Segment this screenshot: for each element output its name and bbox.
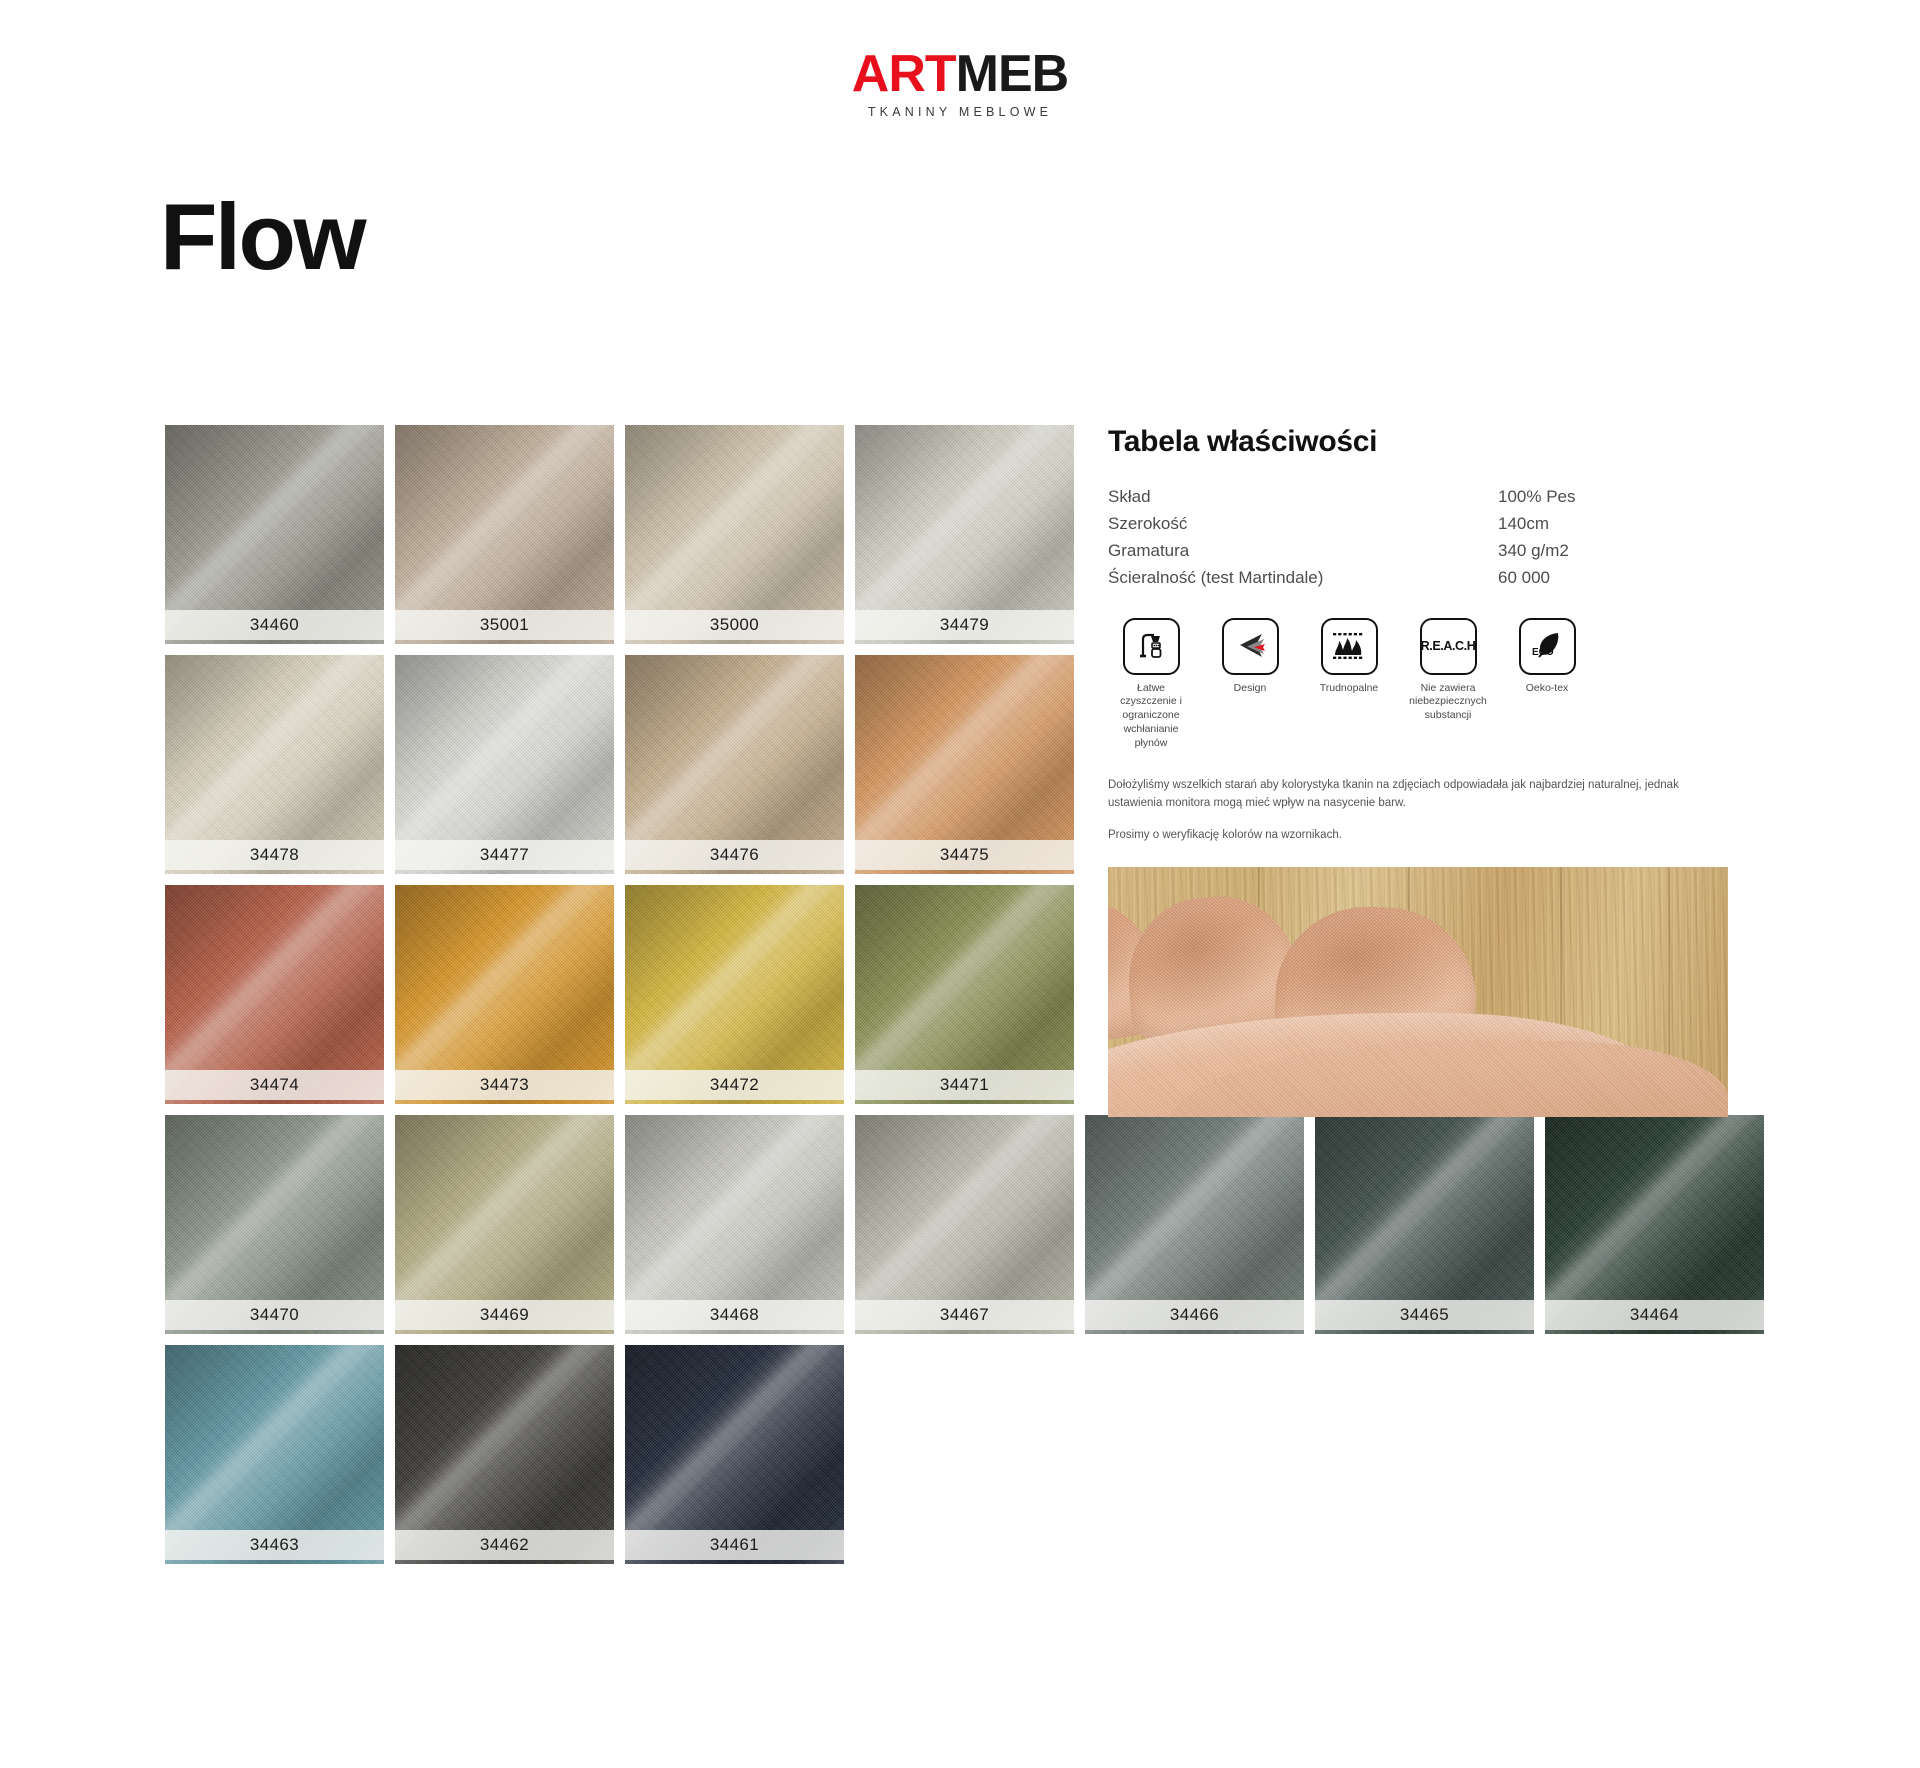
fabric-swatch[interactable]: 34470 <box>165 1115 384 1334</box>
swatch-code: 35001 <box>480 615 529 635</box>
fabric-swatch[interactable]: 34464 <box>1545 1115 1764 1334</box>
swatch-label-bar: 34474 <box>165 1070 384 1100</box>
swatch-code: 34471 <box>940 1075 989 1095</box>
fabric-swatch[interactable]: 34472 <box>625 885 844 1104</box>
swatch-code: 34473 <box>480 1075 529 1095</box>
swatch-code: 34477 <box>480 845 529 865</box>
fabric-swatch[interactable]: 34466 <box>1085 1115 1304 1334</box>
swatch-code: 34470 <box>250 1305 299 1325</box>
logo-tagline: TKANINY MEBLOWE <box>0 105 1920 119</box>
fabric-swatch[interactable]: 34462 <box>395 1345 614 1564</box>
page-title: Flow <box>160 190 364 284</box>
swatch-label-bar: 34467 <box>855 1300 1074 1330</box>
feature-flame-retardant: Trudnopalne <box>1306 618 1392 752</box>
table-row: Szerokość 140cm <box>1108 510 1728 537</box>
swatch-label-bar: 34461 <box>625 1530 844 1560</box>
swatch-row: 34470344693446834467344663446534464 <box>165 1115 1265 1334</box>
fabric-swatch[interactable]: 34475 <box>855 655 1074 874</box>
swatch-row: 34460350013500034479 <box>165 425 1265 644</box>
table-row: Skład 100% Pes <box>1108 483 1728 510</box>
property-label-scieralnosc: Ścieralność (test Martindale) <box>1108 564 1498 591</box>
fabric-swatch[interactable]: 34473 <box>395 885 614 1104</box>
sofa-upholstery <box>1108 893 1608 1117</box>
swatch-code: 34467 <box>940 1305 989 1325</box>
product-photo <box>1108 867 1728 1117</box>
table-row: Ścieralność (test Martindale) 60 000 <box>1108 564 1728 591</box>
logo-wordmark: ARTMEB <box>852 48 1068 100</box>
swatch-code: 34466 <box>1170 1305 1219 1325</box>
fabric-swatch[interactable]: 34467 <box>855 1115 1074 1334</box>
swatch-label-bar: 34460 <box>165 610 384 640</box>
swatch-label-bar: 34470 <box>165 1300 384 1330</box>
reach-icon: R.E.A.C.H <box>1420 618 1477 675</box>
swatch-label-bar: 35000 <box>625 610 844 640</box>
properties-panel: Tabela właściwości Skład 100% Pes Szerok… <box>1108 425 1728 1117</box>
swatch-code: 34475 <box>940 845 989 865</box>
feature-reach: R.E.A.C.H Nie zawiera niebezpiecznych su… <box>1405 618 1491 752</box>
brand-logo: ARTMEB TKANINY MEBLOWE <box>0 48 1920 119</box>
fabric-swatch[interactable]: 34468 <box>625 1115 844 1334</box>
flame-icon <box>1321 618 1378 675</box>
design-arrow-icon <box>1222 618 1279 675</box>
swatch-code: 34463 <box>250 1535 299 1555</box>
fabric-swatch[interactable]: 34465 <box>1315 1115 1534 1334</box>
swatch-label-bar: 34468 <box>625 1300 844 1330</box>
swatch-label-bar: 34473 <box>395 1070 614 1100</box>
property-value-gramatura: 340 g/m2 <box>1498 537 1728 564</box>
feature-caption: Oeko-tex <box>1526 682 1569 696</box>
swatch-code: 34479 <box>940 615 989 635</box>
property-label-sklad: Skład <box>1108 483 1498 510</box>
swatch-label-bar: 34462 <box>395 1530 614 1560</box>
property-value-scieralnosc: 60 000 <box>1498 564 1728 591</box>
swatch-code: 34472 <box>710 1075 759 1095</box>
feature-icon-row: Łatwe czyszczenie i ograniczone wchłania… <box>1108 618 1728 752</box>
property-label-gramatura: Gramatura <box>1108 537 1498 564</box>
swatch-label-bar: 34476 <box>625 840 844 870</box>
swatch-code: 34478 <box>250 845 299 865</box>
swatch-code: 34460 <box>250 615 299 635</box>
swatch-code: 34469 <box>480 1305 529 1325</box>
properties-heading: Tabela właściwości <box>1108 425 1728 459</box>
logo-meb-text: MEB <box>956 45 1069 103</box>
fabric-swatch[interactable]: 34469 <box>395 1115 614 1334</box>
swatch-code: 34462 <box>480 1535 529 1555</box>
feature-caption: Łatwe czyszczenie i ograniczone wchłania… <box>1108 682 1194 752</box>
feature-design: Design <box>1207 618 1293 752</box>
fabric-swatch[interactable]: 34463 <box>165 1345 384 1564</box>
fabric-swatch[interactable]: 34479 <box>855 425 1074 644</box>
swatch-code: 34476 <box>710 845 759 865</box>
properties-table: Skład 100% Pes Szerokość 140cm Gramatura… <box>1108 483 1728 592</box>
feature-caption: Trudnopalne <box>1320 682 1379 696</box>
fabric-swatch[interactable]: 35000 <box>625 425 844 644</box>
swatch-label-bar: 34479 <box>855 610 1074 640</box>
feature-caption: Nie zawiera niebezpiecznych substancji <box>1405 682 1491 724</box>
disclaimer-text: Dołożyliśmy wszelkich starań aby kolorys… <box>1108 777 1723 844</box>
swatch-label-bar: 34477 <box>395 840 614 870</box>
eco-leaf-icon: ECO <box>1519 618 1576 675</box>
swatch-code: 34468 <box>710 1305 759 1325</box>
swatch-label-bar: 34471 <box>855 1070 1074 1100</box>
swatch-label-bar: 34475 <box>855 840 1074 870</box>
swatch-row: 344633446234461 <box>165 1345 1265 1564</box>
fabric-swatch[interactable]: 34460 <box>165 425 384 644</box>
disclaimer-paragraph-1: Dołożyliśmy wszelkich starań aby kolorys… <box>1108 777 1723 813</box>
feature-easy-clean: Łatwe czyszczenie i ograniczone wchłania… <box>1108 618 1194 752</box>
fabric-swatch[interactable]: 34477 <box>395 655 614 874</box>
feature-caption: Design <box>1234 682 1267 696</box>
property-value-sklad: 100% Pes <box>1498 483 1728 510</box>
property-value-szerokosc: 140cm <box>1498 510 1728 537</box>
fabric-swatch[interactable]: 34478 <box>165 655 384 874</box>
disclaimer-paragraph-2: Prosimy o weryfikację kolorów na wzornik… <box>1108 827 1723 845</box>
fabric-swatch[interactable]: 34476 <box>625 655 844 874</box>
swatch-label-bar: 34472 <box>625 1070 844 1100</box>
swatch-code: 34474 <box>250 1075 299 1095</box>
svg-text:ECO: ECO <box>1532 647 1554 658</box>
fabric-swatch-grid: 3446035001350003447934478344773447634475… <box>165 425 1265 1575</box>
swatch-code: 35000 <box>710 615 759 635</box>
fabric-swatch[interactable]: 35001 <box>395 425 614 644</box>
swatch-code: 34465 <box>1400 1305 1449 1325</box>
feature-oeko-tex: ECO Oeko-tex <box>1504 618 1590 752</box>
vacuum-cleaner-icon <box>1123 618 1180 675</box>
property-label-szerokosc: Szerokość <box>1108 510 1498 537</box>
table-row: Gramatura 340 g/m2 <box>1108 537 1728 564</box>
fabric-swatch[interactable]: 34471 <box>855 885 1074 1104</box>
swatch-code: 34461 <box>710 1535 759 1555</box>
swatch-label-bar: 34464 <box>1545 1300 1764 1330</box>
swatch-code: 34464 <box>1630 1305 1679 1325</box>
logo-art-text: ART <box>852 45 956 103</box>
swatch-label-bar: 34478 <box>165 840 384 870</box>
swatch-label-bar: 34466 <box>1085 1300 1304 1330</box>
swatch-row: 34478344773447634475 <box>165 655 1265 874</box>
swatch-label-bar: 34465 <box>1315 1300 1534 1330</box>
swatch-label-bar: 35001 <box>395 610 614 640</box>
fabric-swatch[interactable]: 34461 <box>625 1345 844 1564</box>
swatch-label-bar: 34463 <box>165 1530 384 1560</box>
swatch-row: 34474344733447234471 <box>165 885 1265 1104</box>
swatch-label-bar: 34469 <box>395 1300 614 1330</box>
fabric-swatch[interactable]: 34474 <box>165 885 384 1104</box>
